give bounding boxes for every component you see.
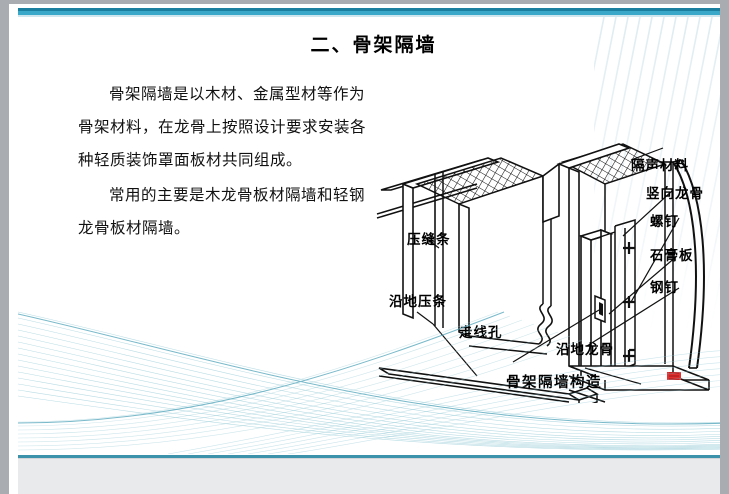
paragraph-1: 骨架隔墙是以木材、金属型材等作为骨架材料，在龙骨上按照设计要求安装各种轻质装饰罩… xyxy=(78,78,378,177)
body-text: 骨架隔墙是以木材、金属型材等作为骨架材料，在龙骨上按照设计要求安装各种轻质装饰罩… xyxy=(78,78,378,245)
diagram-label-screw: 螺钉 xyxy=(650,210,679,230)
diagram-label-sound-insulation: 隔声材料 xyxy=(631,154,689,174)
diagram-label-floor-track: 沿地龙骨 xyxy=(556,338,614,358)
slide-canvas: 二、骨架隔墙 骨架隔墙是以木材、金属型材等作为骨架材料，在龙骨上按照设计要求安装… xyxy=(18,8,729,494)
diagram-caption: 骨架隔墙构造 xyxy=(506,371,602,392)
diagram-label-joint-batten: 压缝条 xyxy=(407,228,451,248)
diagram-label-gypsum-board: 石膏板 xyxy=(650,244,694,264)
slide-title: 二、骨架隔墙 xyxy=(18,30,729,57)
top-rule-light xyxy=(18,15,729,17)
diagram-label-floor-batten: 沿地压条 xyxy=(389,290,447,310)
footer-band-edge xyxy=(18,458,729,459)
diagram-label-vertical-stud: 竖向龙骨 xyxy=(646,182,704,202)
diagram-label-steel-nail: 钢钉 xyxy=(650,276,679,296)
footer-band xyxy=(18,458,729,494)
paragraph-2: 常用的主要是木龙骨板材隔墙和轻钢龙骨板材隔墙。 xyxy=(78,179,378,245)
diagram-label-wiring-hole: 走线孔 xyxy=(459,321,503,341)
slide: 二、骨架隔墙 骨架隔墙是以木材、金属型材等作为骨架材料，在龙骨上按照设计要求安装… xyxy=(0,0,729,494)
